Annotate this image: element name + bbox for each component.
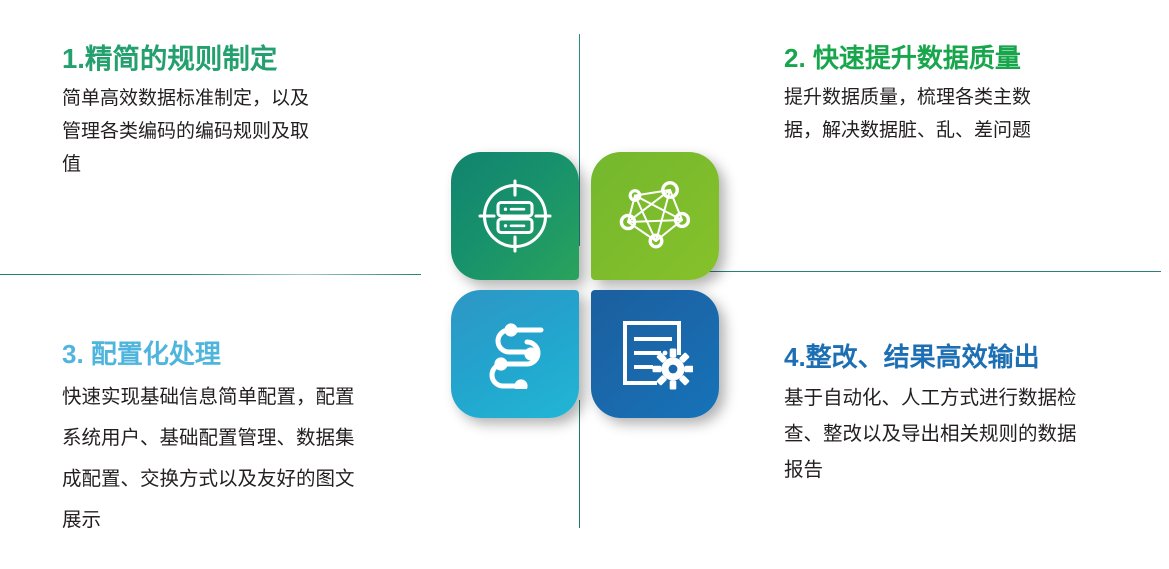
body-line: 系统用户、基础配置管理、数据集 [62,418,462,459]
quadrant-config-title: 3. 配置化处理 [62,334,462,371]
body-line: 报告 [784,452,1169,488]
body-line: 成配置、交换方式以及友好的图文 [62,459,462,500]
tile-output[interactable] [591,290,719,418]
body-line: 展示 [62,500,462,541]
body-line: 快速实现基础信息简单配置，配置 [62,377,462,418]
center-tile-cluster [451,152,719,418]
document-gear-icon [617,317,693,391]
network-graph-icon [618,179,692,253]
target-database-icon [477,178,553,254]
quadrant-output-body: 基于自动化、人工方式进行数据检 查、整改以及导出相关规则的数据 报告 [784,380,1169,488]
quadrant-standards-title: 1.精简的规则制定 [62,36,462,76]
divider-horizontal-left [0,274,421,275]
quadrant-standards: 1.精简的规则制定 简单高效数据标准制定，以及 管理各类编码的编码规则及取 值 [62,36,462,181]
body-line: 值 [62,148,462,181]
quadrant-standards-body: 简单高效数据标准制定，以及 管理各类编码的编码规则及取 值 [62,82,462,181]
tile-quality[interactable] [591,152,719,280]
body-line: 管理各类编码的编码规则及取 [62,115,462,148]
quadrant-output: 4.整改、结果高效输出 基于自动化、人工方式进行数据检 查、整改以及导出相关规则… [784,337,1169,488]
quadrant-output-title: 4.整改、结果高效输出 [784,337,1169,374]
body-line: 简单高效数据标准制定，以及 [62,82,462,115]
body-line: 基于自动化、人工方式进行数据检 [784,380,1169,416]
tile-standards[interactable] [451,152,579,280]
quadrant-config-body: 快速实现基础信息简单配置，配置 系统用户、基础配置管理、数据集 成配置、交换方式… [62,377,462,541]
divider-vertical-bottom [579,400,580,528]
quadrant-quality-title: 2. 快速提升数据质量 [784,38,1164,75]
quadrant-quality: 2. 快速提升数据质量 提升数据质量，梳理各类主数 据，解决数据脏、乱、差问题 [784,38,1164,147]
quadrant-config: 3. 配置化处理 快速实现基础信息简单配置，配置 系统用户、基础配置管理、数据集… [62,334,462,541]
tile-config[interactable] [451,290,579,418]
quadrant-quality-body: 提升数据质量，梳理各类主数 据，解决数据脏、乱、差问题 [784,81,1164,147]
divider-horizontal-right [700,271,1161,272]
body-line: 提升数据质量，梳理各类主数 [784,81,1164,114]
body-line: 据，解决数据脏、乱、差问题 [784,114,1164,147]
workflow-path-icon [475,319,555,389]
body-line: 查、整改以及导出相关规则的数据 [784,416,1169,452]
